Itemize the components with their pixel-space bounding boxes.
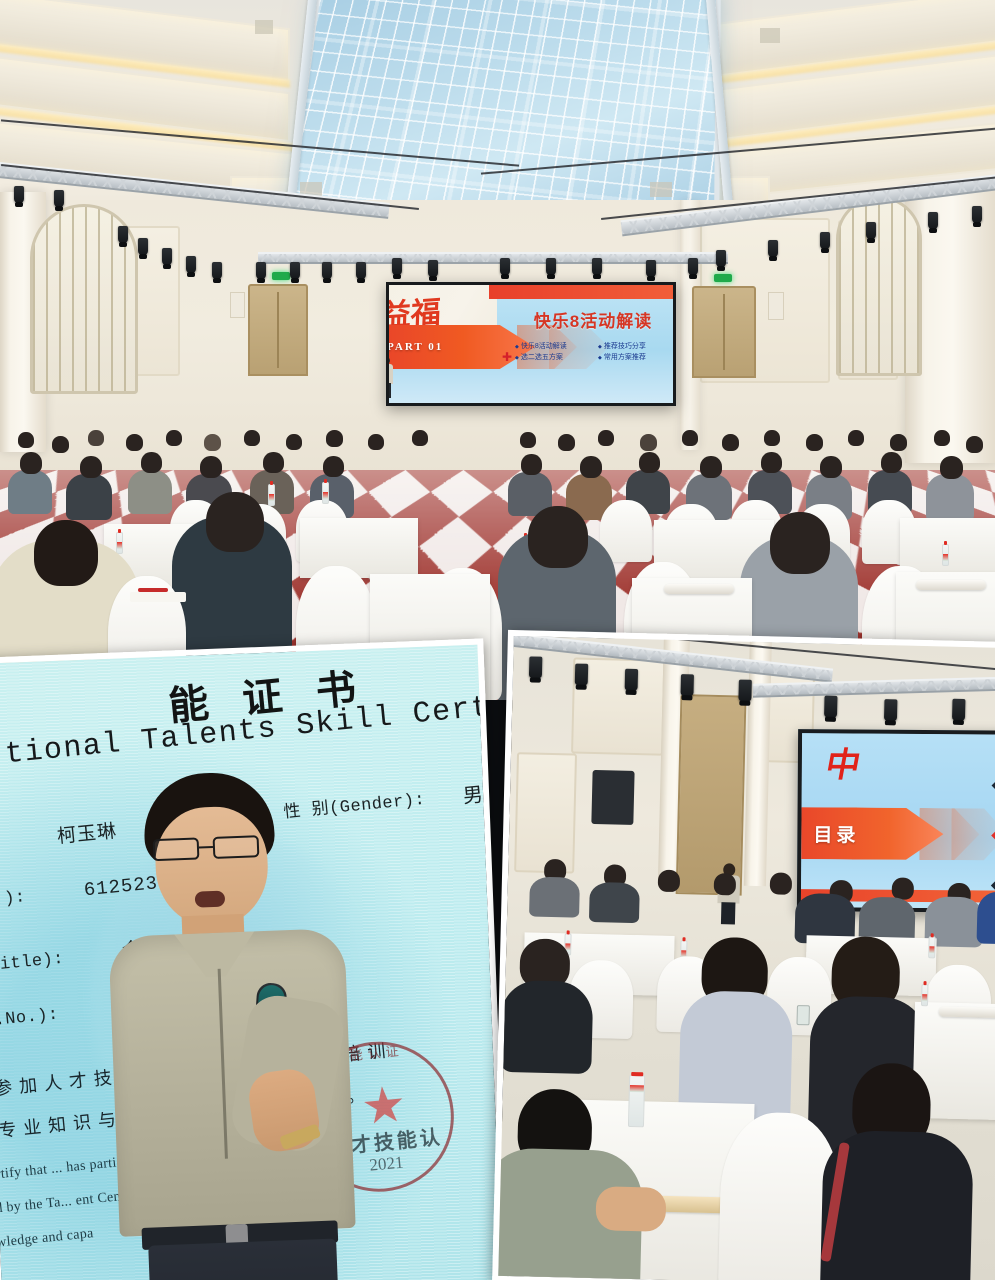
skirted-table	[300, 518, 418, 578]
presenter-head	[386, 357, 390, 364]
moving-head-light	[824, 696, 838, 718]
water-bottle	[268, 484, 275, 506]
moving-head-light	[546, 258, 556, 275]
ceiling-vent	[255, 20, 273, 34]
slide-bullet: 推荐技巧分享	[598, 343, 675, 352]
audience-torso	[66, 474, 112, 520]
water-bottle	[928, 936, 936, 958]
paper-roll	[939, 1007, 995, 1019]
audience-head	[640, 434, 657, 451]
water-bottle	[628, 1075, 645, 1127]
hall-door	[692, 286, 756, 378]
audience-head	[890, 434, 907, 451]
audience-head	[52, 436, 69, 453]
water-bottle	[942, 544, 949, 566]
audience-head	[34, 520, 98, 586]
main-photo-conference-hall: 益福 PART 01 快乐8活动解读 ✚ 快乐8活动解读 推荐技巧分享 选二选五…	[0, 0, 995, 700]
audience-head	[323, 456, 344, 477]
pa-speaker	[591, 770, 634, 825]
china-welfare-lottery-logo-icon: 中	[826, 749, 872, 787]
slide-bullet: 常用方案推荐	[598, 354, 675, 363]
moving-head-light	[212, 262, 222, 279]
moving-head-light	[972, 206, 982, 223]
paper-roll	[916, 580, 986, 590]
water-bottle	[322, 482, 329, 504]
moving-head-light	[688, 258, 698, 275]
moving-head-light	[625, 669, 639, 691]
audience-head	[520, 432, 536, 448]
audience-head	[761, 452, 782, 473]
chevron-ghost	[951, 808, 995, 860]
cert-label: ert.No.):	[0, 1005, 60, 1033]
lottery-cross-icon: ✚	[501, 351, 513, 363]
hall-door	[248, 284, 308, 376]
moving-head-light	[592, 258, 602, 275]
ceiling-vent	[760, 28, 780, 43]
slide-title: 快乐8活动解读	[509, 307, 676, 332]
audience-head	[521, 454, 542, 475]
audience-head	[528, 506, 588, 568]
audience-head	[244, 430, 260, 446]
audience-head	[326, 430, 343, 447]
led-screen-main: 益福 PART 01 快乐8活动解读 ✚ 快乐8活动解读 推荐技巧分享 选二选五…	[386, 282, 676, 406]
smartphone	[796, 1005, 809, 1025]
moving-head-light	[768, 240, 778, 257]
speaker-figure	[90, 768, 371, 1280]
audience-head	[806, 434, 823, 451]
audience-head	[714, 873, 737, 896]
ceiling-vent	[650, 182, 672, 197]
speaker-trousers	[148, 1239, 344, 1280]
audience-head	[580, 456, 602, 478]
moving-head-light	[738, 680, 752, 702]
slide-bullet: 选二选五方案	[515, 354, 592, 363]
audience-head	[18, 432, 34, 448]
moving-head-light	[529, 656, 543, 678]
moving-head-light	[256, 262, 266, 279]
moving-head-light	[952, 699, 966, 721]
exit-sign	[272, 272, 290, 280]
audience-head	[88, 430, 104, 446]
presenter-legs	[721, 902, 736, 924]
glasses-bridge	[199, 846, 213, 849]
speaker-mouth	[195, 891, 226, 908]
inset-photo-audience-contents: 中 目录 1 2 3	[492, 630, 995, 1280]
audience-head	[820, 456, 842, 478]
cert-label: D.No.):	[0, 888, 27, 914]
audience-head	[204, 434, 221, 451]
moving-head-light	[428, 260, 438, 277]
audience-head	[658, 870, 681, 893]
audience-head	[940, 456, 963, 479]
presenter-body	[386, 364, 393, 384]
audience-head	[263, 452, 284, 473]
audience-head	[412, 430, 428, 446]
audience-torso	[499, 980, 593, 1074]
pen	[138, 588, 168, 592]
moving-head-light	[356, 262, 366, 279]
arched-window	[836, 196, 922, 376]
presenter-legs	[386, 383, 391, 398]
moving-head-light	[392, 258, 402, 275]
part-label: PART 01	[387, 341, 443, 353]
moving-head-light	[186, 256, 196, 273]
moving-head-light	[14, 186, 24, 203]
moving-head-light	[884, 699, 898, 721]
audience-head	[966, 436, 983, 453]
audience-torso	[8, 470, 52, 514]
notebook	[130, 592, 186, 602]
audience-head	[770, 512, 830, 574]
audience-head	[368, 434, 384, 450]
wall-panel	[514, 752, 577, 873]
audience-torso	[589, 882, 640, 923]
cert-label: ob Title):	[0, 950, 65, 979]
glasses-lens	[153, 837, 200, 861]
glasses-lens	[213, 835, 260, 859]
slide-bullet: 快乐8活动解读	[515, 343, 592, 352]
moving-head-light	[322, 262, 332, 279]
exit-sign	[714, 274, 732, 282]
audience-head	[934, 430, 950, 446]
moving-head-light	[716, 250, 726, 267]
moving-head-light	[500, 258, 510, 275]
audience-torso	[128, 470, 172, 514]
water-bottle	[116, 532, 123, 554]
moving-head-light	[575, 664, 589, 686]
slide-bullet-list: 快乐8活动解读 推荐技巧分享 选二选五方案 常用方案推荐	[515, 343, 675, 363]
moving-head-light	[162, 248, 172, 265]
audience-head	[206, 492, 264, 552]
moving-head-light	[820, 232, 830, 249]
seal-star-icon	[362, 1084, 406, 1128]
audience-head	[881, 452, 902, 473]
moving-head-light	[138, 238, 148, 255]
audience-head	[126, 434, 143, 451]
certificate-gender-value: 男	[461, 778, 484, 810]
audience-head	[166, 430, 182, 446]
moving-head-light	[680, 674, 694, 696]
water-bottle	[921, 984, 929, 1006]
wall-speaker	[768, 292, 784, 320]
audience-head	[286, 434, 302, 450]
moving-head-light	[866, 222, 876, 239]
audience-head	[722, 434, 739, 451]
moving-head-light	[118, 226, 128, 243]
audience-torso	[529, 876, 580, 917]
wall-speaker	[230, 292, 245, 318]
audience-head	[639, 452, 660, 473]
banner-top-bar	[489, 283, 676, 299]
photo-collage: 益福 PART 01 快乐8活动解读 ✚ 快乐8活动解读 推荐技巧分享 选二选五…	[0, 0, 995, 1280]
moving-head-light	[290, 262, 300, 279]
audience-head	[770, 872, 793, 895]
speaker-face	[153, 805, 270, 929]
audience-head	[141, 452, 162, 473]
audience-head	[764, 430, 780, 446]
moving-head-light	[54, 190, 64, 207]
certificate-body-en-3: knowledge and capa	[0, 1226, 94, 1254]
stage-presenter	[386, 357, 393, 397]
audience-head	[558, 434, 575, 451]
audience-head	[700, 456, 722, 478]
attendee-hand	[595, 1186, 666, 1232]
moving-head-light	[646, 260, 656, 277]
contents-title: 目录	[813, 820, 859, 847]
audience-head	[80, 456, 102, 478]
audience-head	[682, 430, 698, 446]
audience-head	[598, 430, 614, 446]
audience-head	[20, 452, 42, 474]
glasses-icon	[153, 835, 272, 862]
moving-head-light	[928, 212, 938, 229]
audience-head	[848, 430, 864, 446]
audience-head	[200, 456, 222, 478]
inset-photo-speaker-certificate: 能 证 书 ...tional Talents Skill Certificat…	[0, 638, 508, 1280]
audience-torso	[926, 474, 974, 522]
paper-roll	[664, 584, 734, 594]
